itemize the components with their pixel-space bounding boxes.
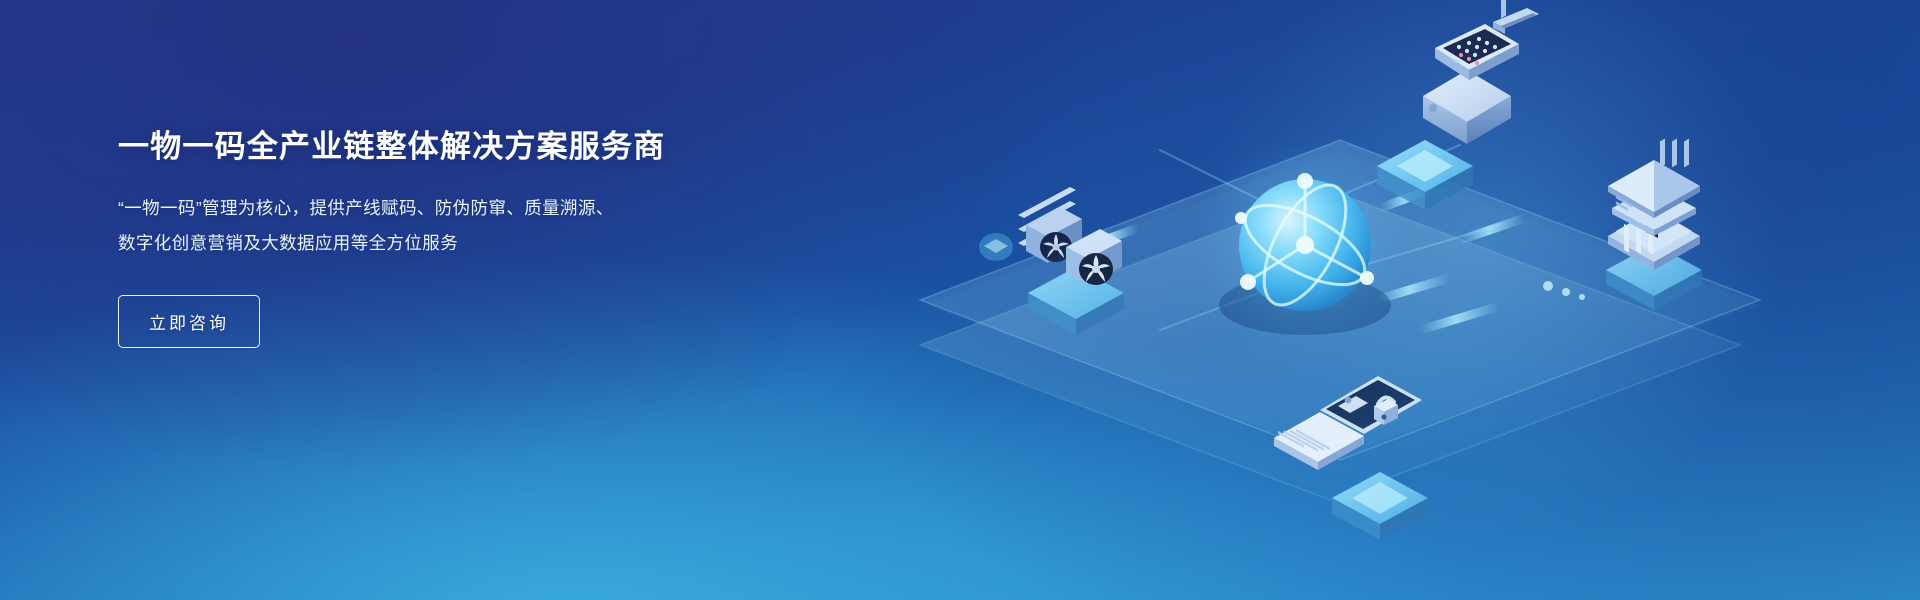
pos-terminal-icon: [1377, 0, 1539, 210]
illustration-isometric-iot-network: [860, 0, 1920, 600]
hero-copy: 一物一码全产业链整体解决方案服务商 “一物一码”管理为核心，提供产线赋码、防伪防…: [118, 128, 738, 348]
bank-building-icon: [1606, 138, 1702, 310]
hero-subtitle: “一物一码”管理为核心，提供产线赋码、防伪防窜、质量溯源、 数字化创意营销及大数…: [118, 191, 738, 261]
subtitle-line-1: “一物一码”管理为核心，提供产线赋码、防伪防窜、质量溯源、: [118, 191, 738, 226]
page-title: 一物一码全产业链整体解决方案服务商: [118, 128, 738, 167]
hero-banner: 一物一码全产业链整体解决方案服务商 “一物一码”管理为核心，提供产线赋码、防伪防…: [0, 0, 1920, 600]
subtitle-line-2: 数字化创意营销及大数据应用等全方位服务: [118, 226, 738, 261]
consult-now-button[interactable]: 立即咨询: [118, 295, 260, 348]
glow-chip: [979, 233, 1013, 261]
